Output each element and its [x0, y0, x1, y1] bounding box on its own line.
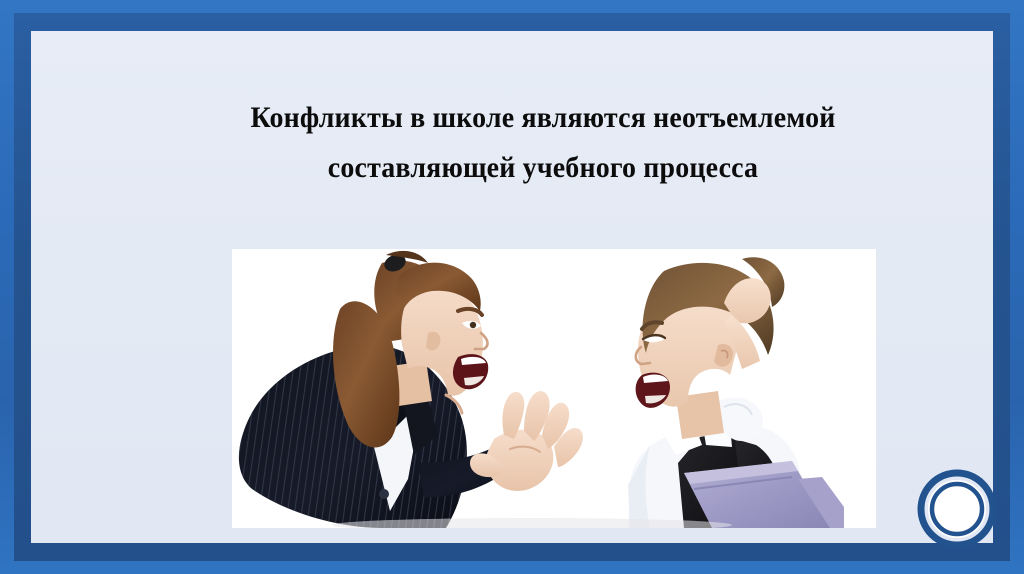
woman-eye-pupil	[470, 322, 476, 328]
slide-root: Конфликты в школе являются неотъемлемой …	[0, 0, 1024, 574]
conflict-photo	[232, 249, 876, 528]
title-line-2: составляющей учебного процесса	[123, 143, 964, 193]
slide-content-panel: Конфликты в школе являются неотъемлемой …	[31, 31, 993, 543]
double-ring-circle-icon	[917, 469, 997, 549]
conflict-photo-illustration	[232, 249, 876, 528]
title-line-1: Конфликты в школе являются неотъемлемой	[123, 93, 964, 143]
woman-jacket-button	[379, 489, 389, 499]
slide-title: Конфликты в школе являются неотъемлемой …	[91, 93, 995, 193]
